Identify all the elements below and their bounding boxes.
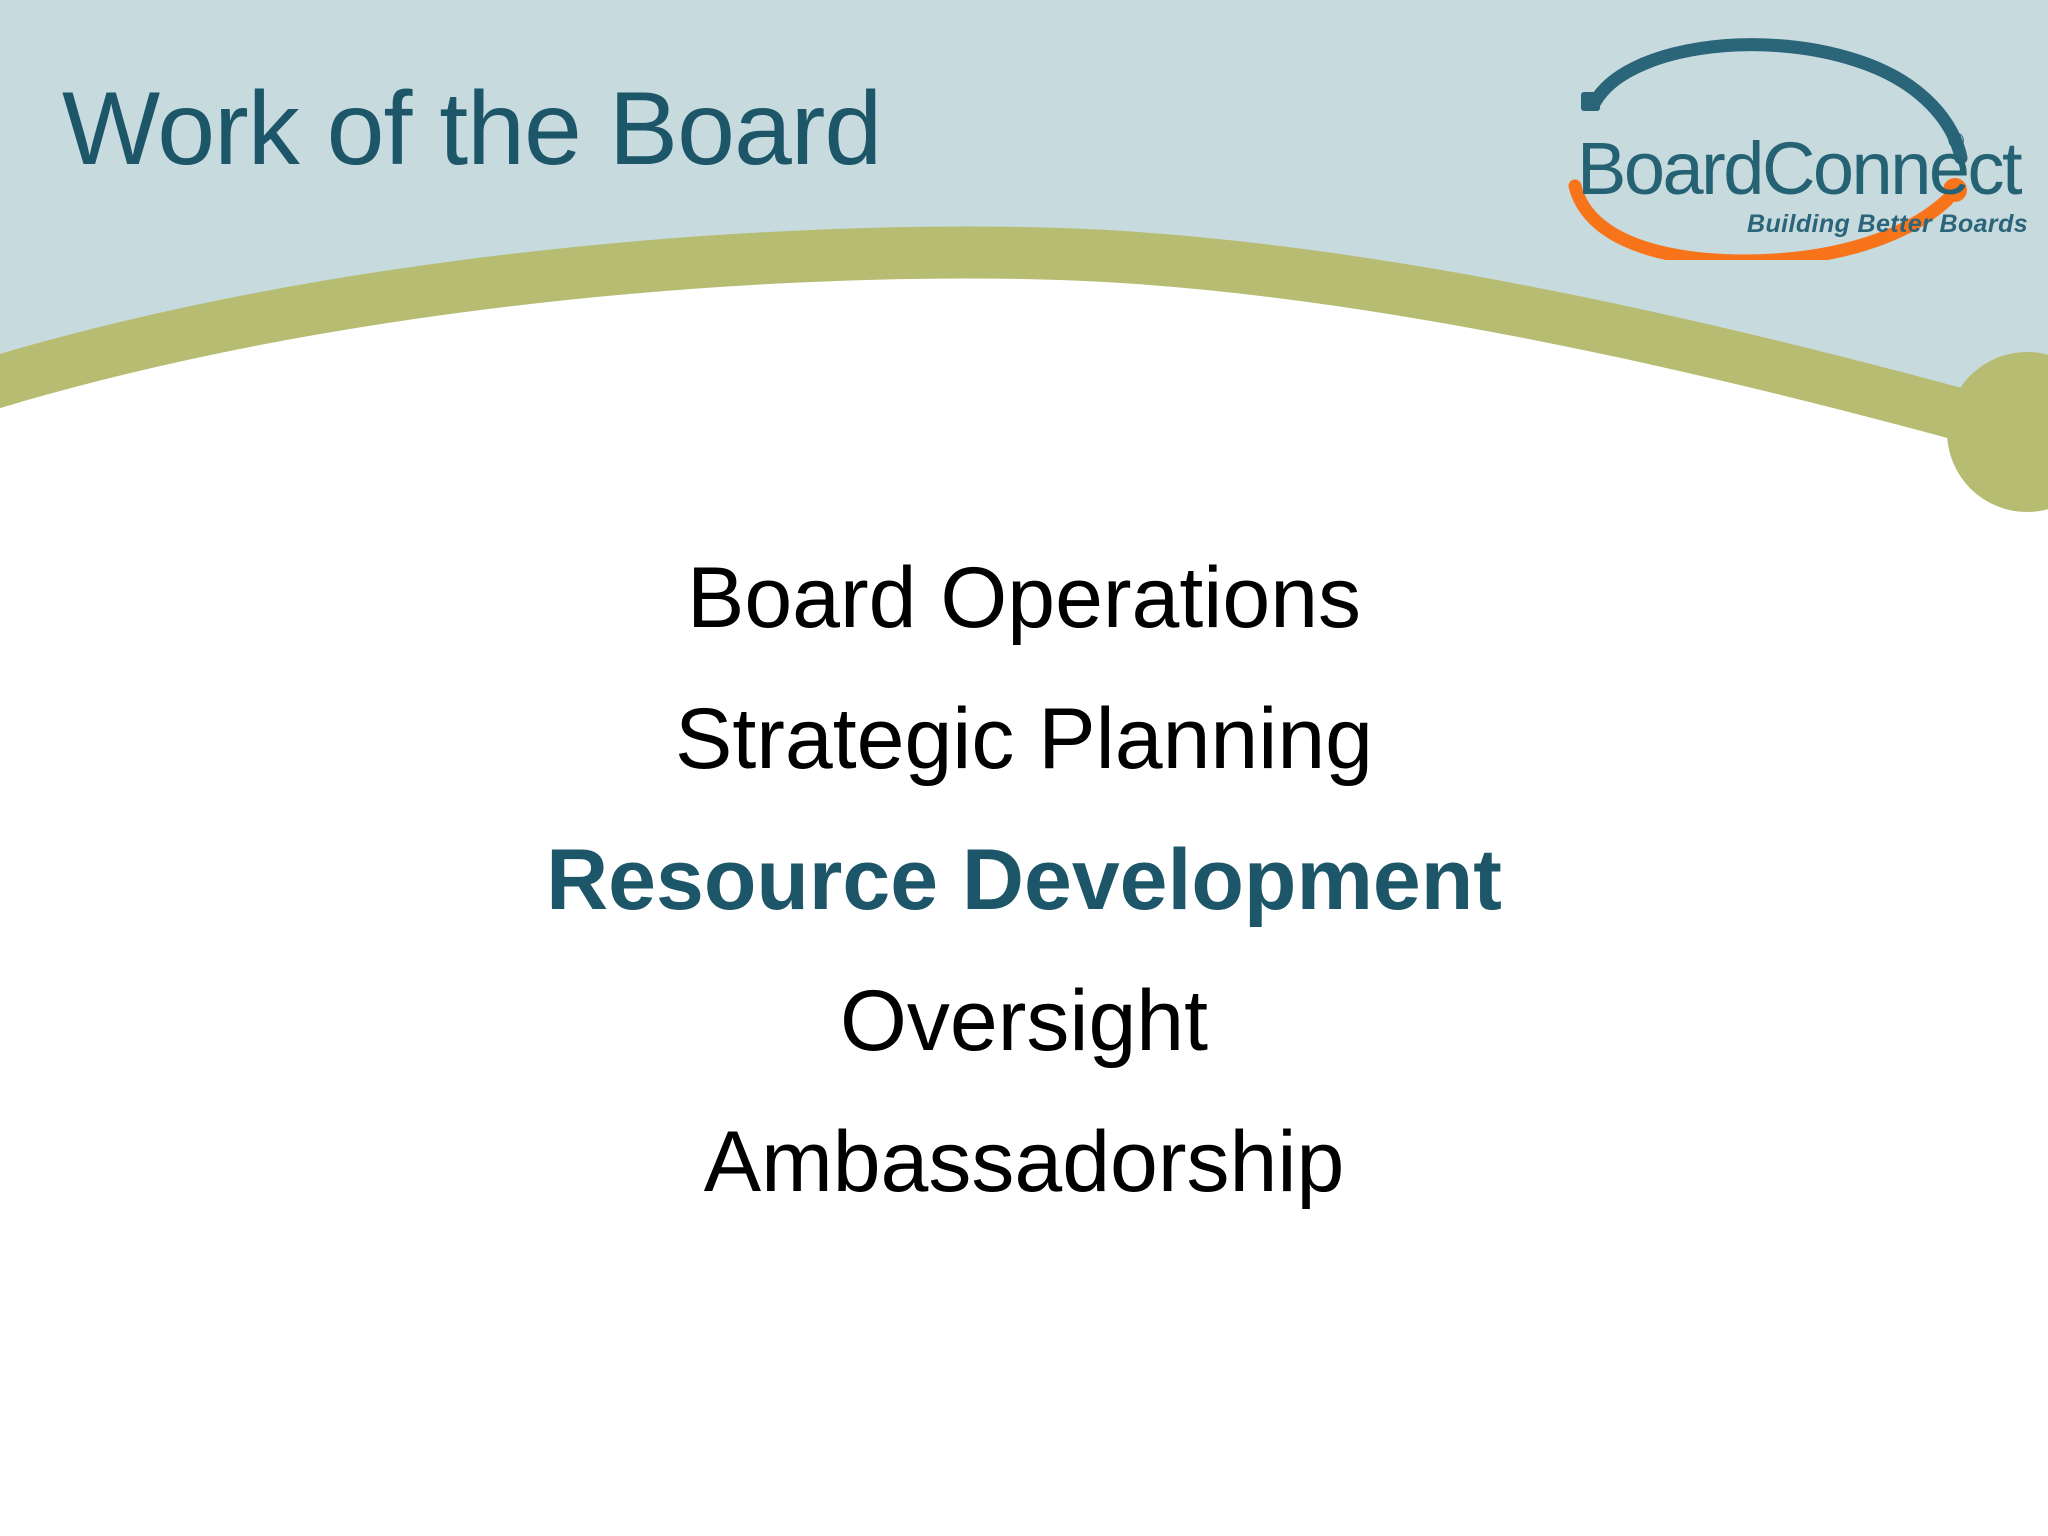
list-item: Strategic Planning xyxy=(0,669,2048,810)
list-item: Oversight xyxy=(0,951,2048,1092)
list-item: Ambassadorship xyxy=(0,1092,2048,1233)
slide-canvas: Work of the Board BoardConnect ® Buildin… xyxy=(0,0,2048,1536)
logo-tagline: Building Better Boards xyxy=(1747,210,2028,239)
logo-teal-dot-icon xyxy=(1581,92,1600,111)
list-item: Board Operations xyxy=(0,528,2048,669)
logo-registered-mark: ® xyxy=(1948,128,1964,154)
list-item-highlighted: Resource Development xyxy=(0,810,2048,951)
content-list: Board Operations Strategic Planning Reso… xyxy=(0,528,2048,1233)
page-title: Work of the Board xyxy=(62,72,881,186)
boardconnect-logo: BoardConnect ® Building Better Boards xyxy=(1555,30,1995,260)
